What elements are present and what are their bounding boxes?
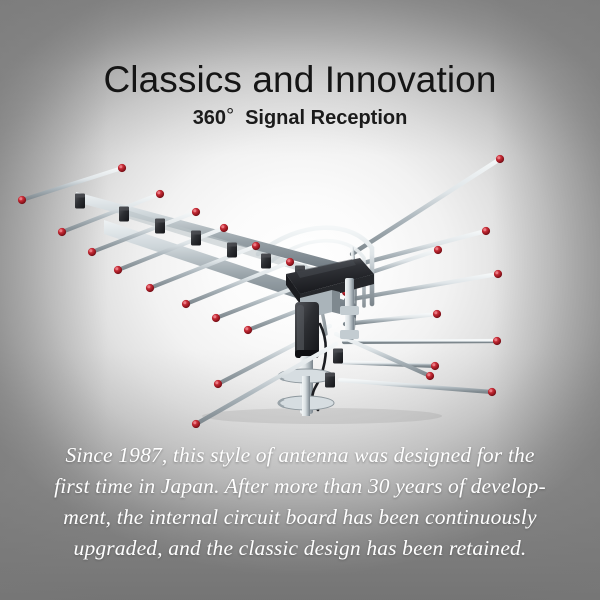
description-line-2: first time in Japan. After more than 30 … xyxy=(26,471,574,502)
ground-shadow xyxy=(202,408,442,424)
degree-symbol: ° xyxy=(226,105,234,127)
description-line-3: ment, the internal circuit board has bee… xyxy=(26,502,574,533)
subtitle-text: Signal Reception xyxy=(245,107,407,129)
antenna-illustration xyxy=(0,128,600,428)
description-line-4: upgraded, and the classic design has bee… xyxy=(26,533,574,564)
subtitle: 360°Signal Reception xyxy=(0,103,600,131)
description-text: Since 1987, this style of antenna was de… xyxy=(26,440,574,564)
page-title: Classics and Innovation xyxy=(0,58,600,102)
center-assembly xyxy=(278,258,374,416)
product-banner: Classics and Innovation 360°Signal Recep… xyxy=(0,0,600,600)
subtitle-value: 360 xyxy=(193,107,226,129)
description-line-1: Since 1987, this style of antenna was de… xyxy=(26,440,574,471)
